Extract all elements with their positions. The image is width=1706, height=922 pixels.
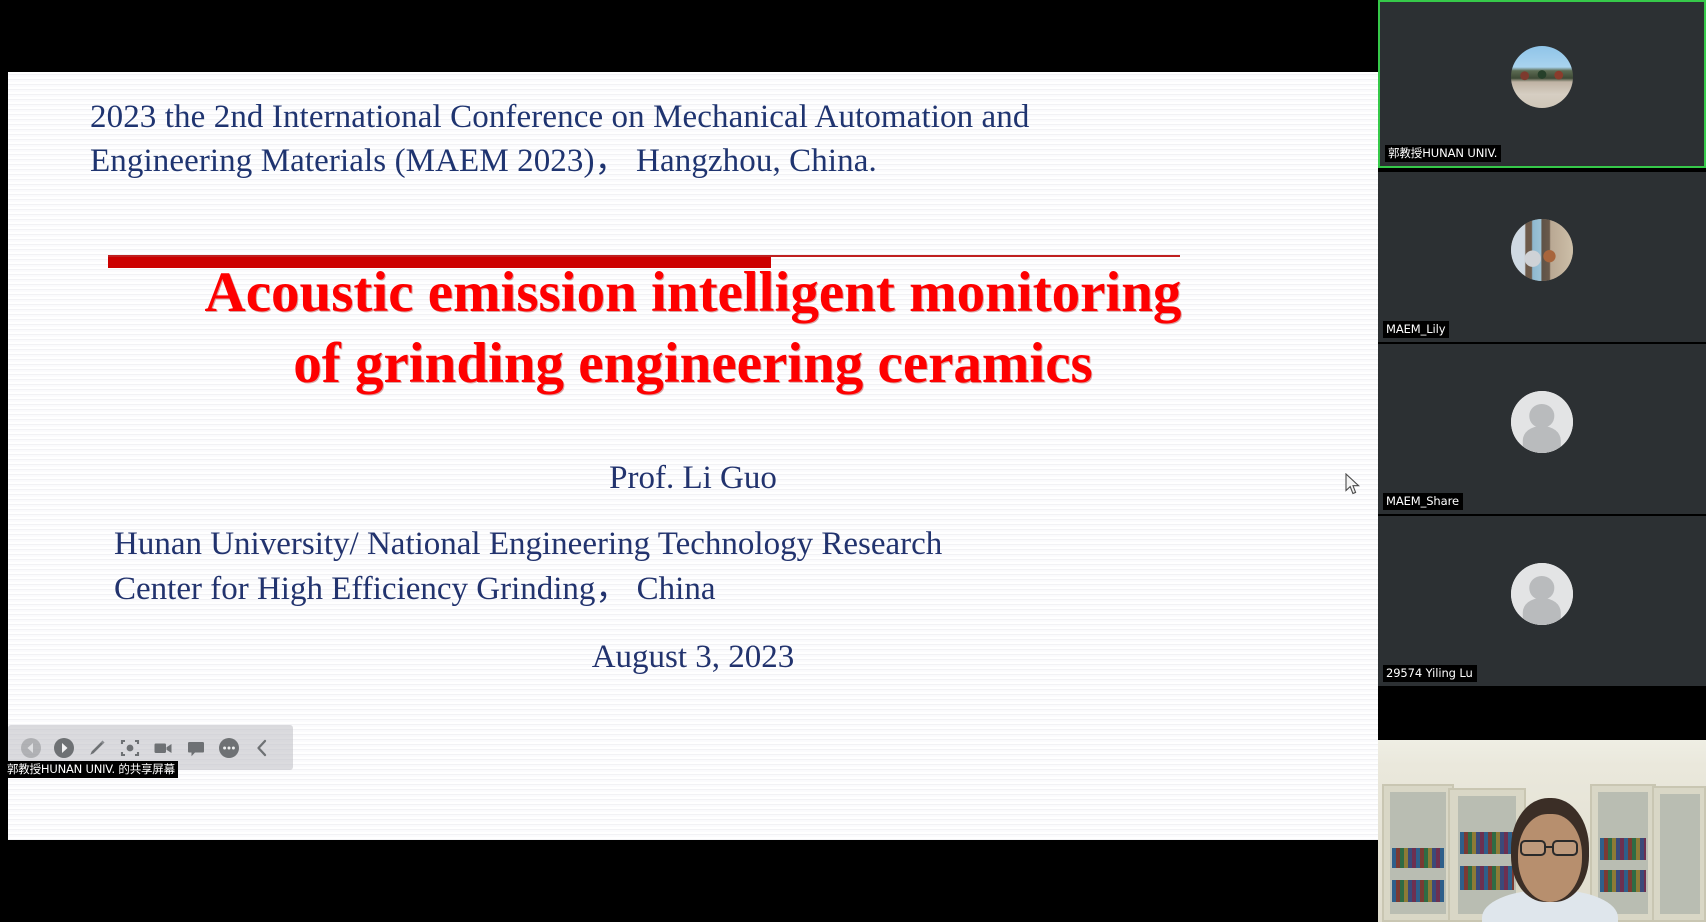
collapse-toolbar-button[interactable]: [245, 731, 278, 764]
affiliation-line-1: Hunan University/ National Engineering T…: [114, 522, 1224, 567]
chevron-left-icon: [251, 737, 273, 759]
slide-title: Acoustic emission intelligent monitoring…: [8, 258, 1378, 399]
placeholder-person-icon: [1511, 391, 1573, 453]
pencil-icon: [86, 737, 108, 759]
previous-slide-button[interactable]: [14, 731, 47, 764]
affiliation-line-2: Center for High Efficiency Grinding， Chi…: [114, 567, 1224, 612]
conference-header: 2023 the 2nd International Conference on…: [90, 96, 1190, 183]
presentation-slide: 2023 the 2nd International Conference on…: [8, 72, 1378, 840]
avatar: [1511, 46, 1573, 108]
participant-tile-2[interactable]: MAEM_Lily: [1378, 172, 1706, 342]
zoom-meeting-window: 2023 the 2nd International Conference on…: [0, 0, 1706, 922]
participant-tile-5[interactable]: 丁忠军: [1378, 740, 1706, 922]
cursor-arrow-icon: [1345, 473, 1363, 497]
video-button[interactable]: [146, 731, 179, 764]
avatar: [1511, 563, 1573, 625]
chat-button[interactable]: [179, 731, 212, 764]
focus-frame-icon: [119, 737, 141, 759]
ellipsis-circle-icon: [218, 737, 240, 759]
avatar: [1511, 219, 1573, 281]
slide-title-line-1: Acoustic emission intelligent monitoring: [8, 258, 1378, 329]
spotlight-button[interactable]: [113, 731, 146, 764]
shared-screen-region: 2023 the 2nd International Conference on…: [0, 0, 1378, 922]
arrow-left-circle-icon: [20, 737, 42, 759]
slide-date: August 3, 2023: [8, 639, 1378, 676]
participant-name: MAEM_Share: [1383, 493, 1463, 510]
video-feed: [1378, 740, 1706, 922]
arrow-right-circle-icon: [53, 737, 75, 759]
video-camera-icon: [152, 737, 174, 759]
conference-header-line-2: Engineering Materials (MAEM 2023)， Hangz…: [90, 140, 1190, 184]
annotate-button[interactable]: [80, 731, 113, 764]
participant-name: 29574 Yiling Lu: [1383, 665, 1477, 682]
presenter-name: Prof. Li Guo: [8, 460, 1378, 497]
more-options-button[interactable]: [212, 731, 245, 764]
mouse-cursor: [1345, 473, 1363, 497]
participant-name: MAEM_Lily: [1383, 321, 1449, 338]
share-owner-label: 郭教授HUNAN UNIV. 的共享屏幕: [4, 761, 178, 778]
presenter-affiliation: Hunan University/ National Engineering T…: [114, 522, 1224, 612]
chat-bubble-icon: [185, 737, 207, 759]
avatar: [1511, 391, 1573, 453]
participants-sidebar[interactable]: 郭教授HUNAN UNIV. MAEM_Lily MAEM_Share 2957…: [1378, 0, 1706, 922]
slide-title-line-2: of grinding engineering ceramics: [8, 329, 1378, 400]
participant-tile-4[interactable]: 29574 Yiling Lu: [1378, 516, 1706, 686]
next-slide-button[interactable]: [47, 731, 80, 764]
participant-tile-1[interactable]: 郭教授HUNAN UNIV.: [1378, 0, 1706, 168]
participant-name: 郭教授HUNAN UNIV.: [1385, 145, 1501, 162]
placeholder-person-icon: [1511, 563, 1573, 625]
conference-header-line-1: 2023 the 2nd International Conference on…: [90, 96, 1190, 140]
participant-tile-3[interactable]: MAEM_Share: [1378, 344, 1706, 514]
